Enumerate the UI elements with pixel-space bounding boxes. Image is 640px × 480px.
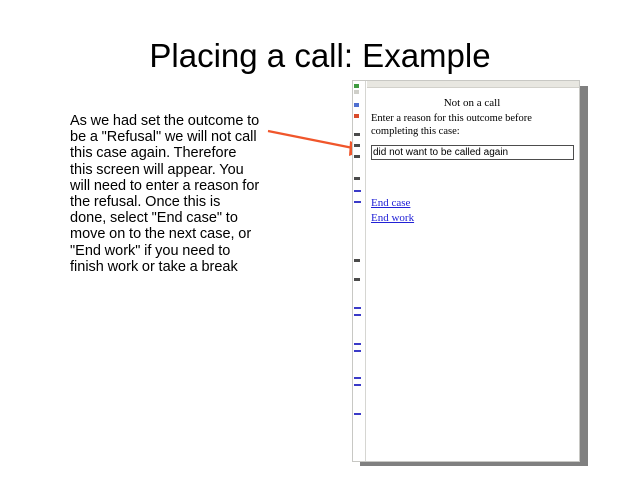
strip-link-fragment (354, 307, 361, 309)
panel-heading: Not on a call (371, 97, 573, 110)
strip-color-mark-grey (354, 90, 359, 94)
strip-text-fragment (354, 144, 360, 147)
strip-color-mark-blue (354, 103, 359, 107)
strip-color-mark-green (354, 84, 359, 88)
strip-link-fragment (354, 201, 361, 203)
screenshot-panel: Not on a call Enter a reason for this ou… (352, 80, 580, 462)
end-work-link[interactable]: End work (371, 211, 573, 225)
inner-window-titlebar (367, 81, 579, 88)
strip-text-fragment (354, 259, 360, 262)
reason-instruction-label: Enter a reason for this outcome before c… (371, 113, 573, 138)
strip-text-fragment (354, 177, 360, 180)
cropped-background-window-strip (353, 81, 366, 461)
call-outcome-form: Not on a call Enter a reason for this ou… (367, 89, 579, 461)
strip-color-mark-red (354, 114, 359, 118)
end-case-link[interactable]: End case (371, 196, 573, 210)
strip-text-fragment (354, 278, 360, 281)
action-links: End case End work (371, 196, 573, 225)
slide-body-text: As we had set the outcome to be a "Refus… (70, 113, 260, 275)
strip-link-fragment (354, 314, 361, 316)
strip-link-fragment (354, 377, 361, 379)
strip-link-fragment (354, 384, 361, 386)
page-title: Placing a call: Example (0, 36, 640, 76)
reason-input[interactable] (371, 145, 574, 160)
strip-link-fragment (354, 350, 361, 352)
strip-link-fragment (354, 190, 361, 192)
strip-text-fragment (354, 155, 360, 158)
strip-link-fragment (354, 343, 361, 345)
reason-input-row (371, 142, 573, 160)
strip-text-fragment (354, 133, 360, 136)
strip-link-fragment (354, 413, 361, 415)
